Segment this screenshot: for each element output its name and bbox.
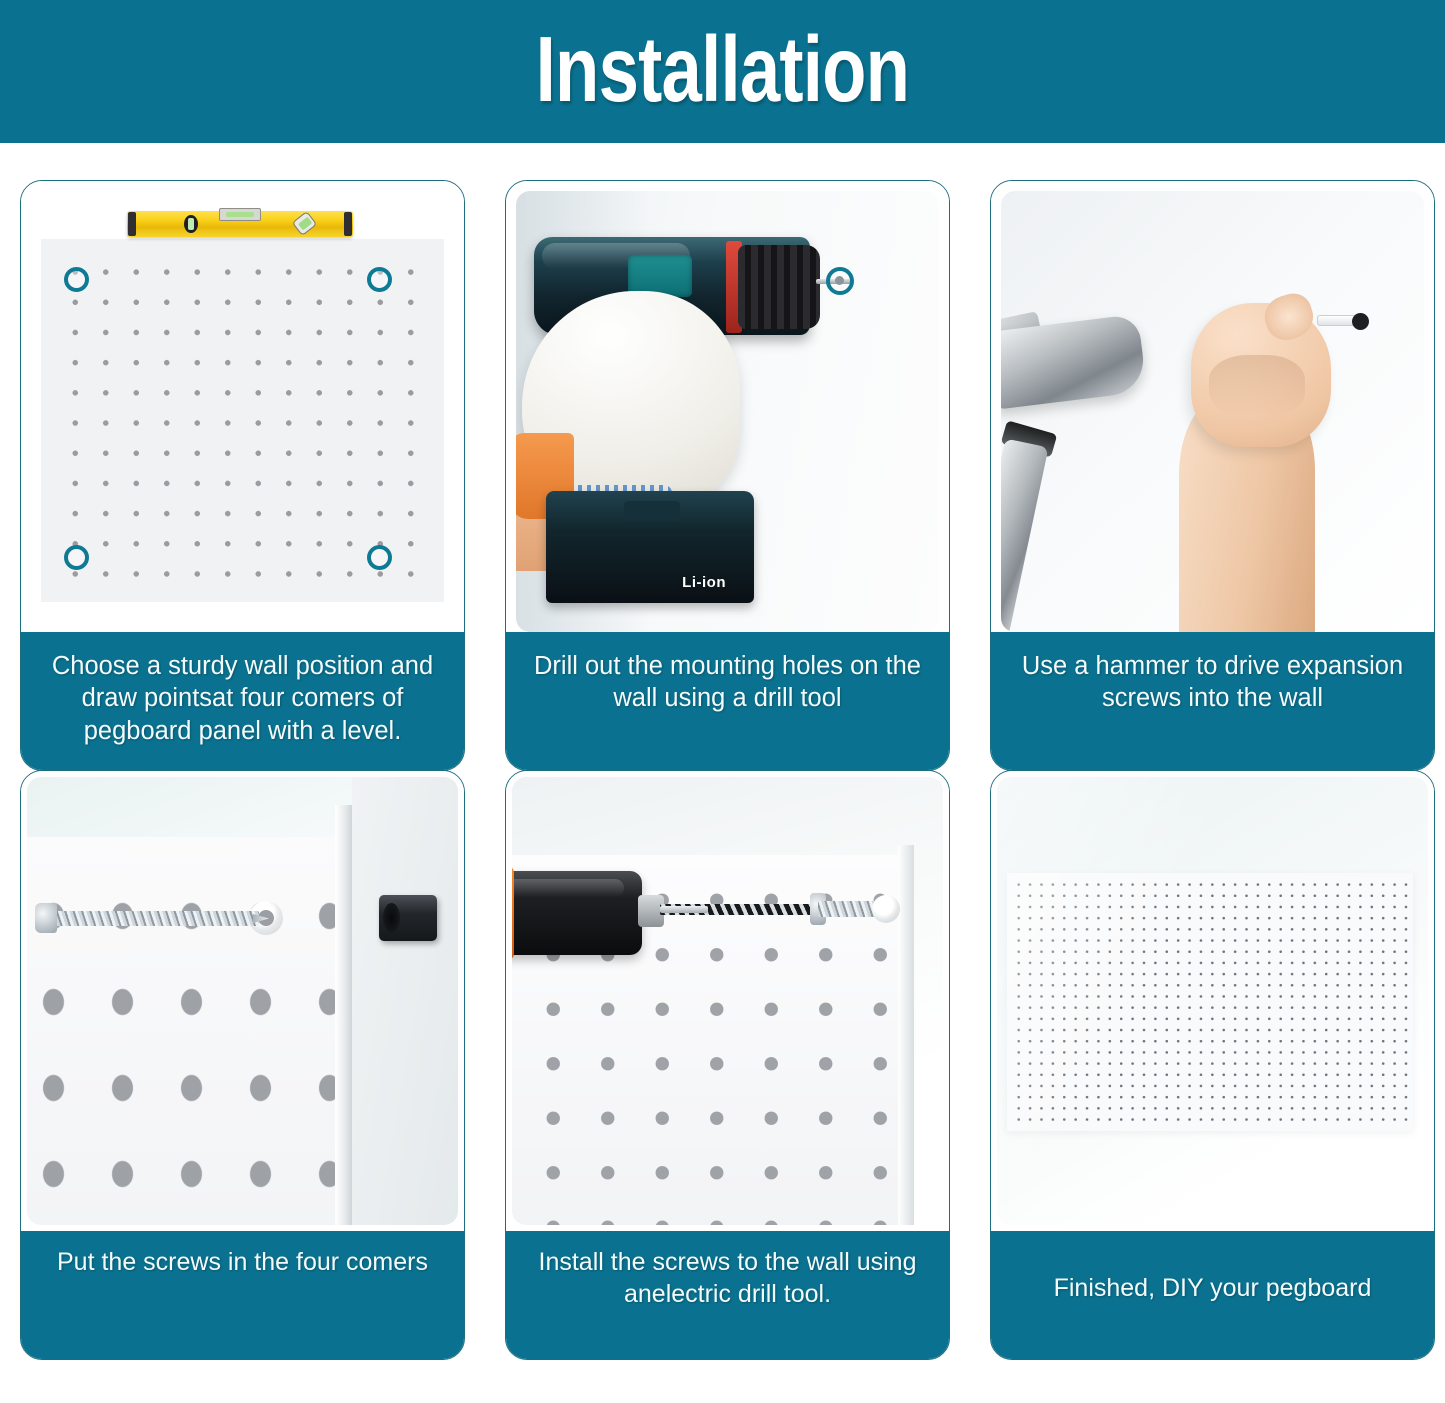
level-round-vial bbox=[184, 215, 198, 233]
step-1-caption: Choose a sturdy wall position and draw p… bbox=[21, 632, 464, 770]
step-4-caption: Put the screws in the four comers bbox=[21, 1231, 464, 1359]
screw-head bbox=[35, 903, 57, 933]
mounting-screw bbox=[49, 911, 259, 926]
pegboard-edge bbox=[335, 805, 352, 1225]
step-2-caption: Drill out the mounting holes on the wall… bbox=[506, 632, 949, 770]
hammer-handle bbox=[1001, 438, 1049, 632]
step-5-caption: Install the screws to the wall using ane… bbox=[506, 1231, 949, 1359]
page-title: Installation bbox=[536, 23, 910, 116]
step-6-illustration bbox=[991, 771, 1434, 1231]
step-4-illustration bbox=[21, 771, 464, 1231]
step-card-2: Li-ion Drill out the mounting holes on t… bbox=[505, 180, 950, 771]
hammer-head bbox=[1001, 314, 1147, 410]
step-card-3: Use a hammer to drive expansion screws i… bbox=[990, 180, 1435, 771]
spirit-level-icon bbox=[127, 211, 353, 237]
battery-label: Li-ion bbox=[682, 574, 726, 591]
page-header: Installation bbox=[0, 0, 1445, 143]
black-spacer-standoff bbox=[379, 895, 437, 941]
level-diagonal-vial bbox=[292, 211, 317, 236]
step-1-illustration bbox=[21, 181, 464, 632]
step-3-caption: Use a hammer to drive expansion screws i… bbox=[991, 632, 1434, 770]
step-5-illustration bbox=[506, 771, 949, 1231]
step-card-5: Install the screws to the wall using ane… bbox=[505, 770, 950, 1360]
pegboard-panel-closeup bbox=[27, 837, 335, 1225]
step-2-illustration: Li-ion bbox=[506, 181, 949, 632]
level-horizontal-vial bbox=[219, 208, 261, 221]
drill-orange-grip bbox=[512, 865, 514, 961]
installation-steps-grid: Choose a sturdy wall position and draw p… bbox=[0, 143, 1445, 1403]
corner-ring-top-right-icon bbox=[367, 267, 392, 292]
step-3-illustration bbox=[991, 181, 1434, 632]
corner-ring-top-left-icon bbox=[64, 267, 89, 292]
wall-light-sheen bbox=[997, 777, 1428, 1225]
electric-drill-body bbox=[512, 871, 642, 955]
drill-chuck bbox=[738, 245, 820, 329]
drill-bit-shank bbox=[660, 906, 708, 913]
battery-release-button bbox=[624, 501, 680, 521]
step-card-6: Finished, DIY your pegboard bbox=[990, 770, 1435, 1360]
wall-background bbox=[352, 777, 458, 1225]
corner-ring-bottom-right-icon bbox=[367, 545, 392, 570]
pegboard-panel bbox=[41, 239, 444, 602]
pegboard-edge bbox=[898, 845, 914, 1225]
step-card-4: Put the screws in the four comers bbox=[20, 770, 465, 1360]
drill-battery-pack: Li-ion bbox=[546, 491, 754, 603]
pegboard-hole-grid bbox=[57, 254, 434, 592]
step-6-caption: Finished, DIY your pegboard bbox=[991, 1231, 1434, 1359]
drill-point-ring-icon bbox=[826, 267, 854, 295]
expansion-anchor-screw bbox=[1317, 315, 1359, 326]
screw-washer bbox=[872, 895, 900, 923]
corner-ring-bottom-left-icon bbox=[64, 545, 89, 570]
step-card-1: Choose a sturdy wall position and draw p… bbox=[20, 180, 465, 771]
